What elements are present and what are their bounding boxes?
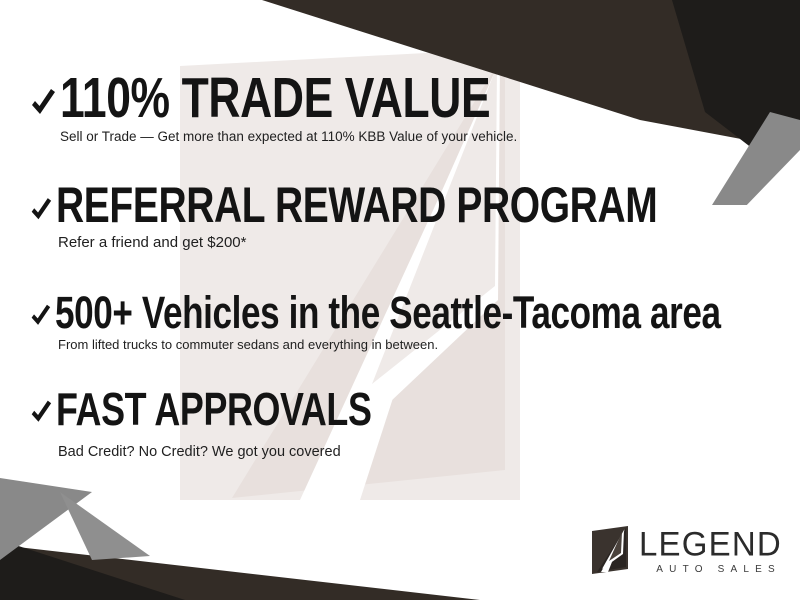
- feature-item-trade-value: 110% TRADE VALUE Sell or Trade — Get mor…: [30, 72, 780, 144]
- feature-item-fast-approvals: FAST APPROVALS Bad Credit? No Credit? We…: [30, 388, 780, 460]
- feature-subline: Sell or Trade — Get more than expected a…: [60, 129, 780, 144]
- logo-tagline: AUTO SALES: [639, 565, 782, 575]
- feature-headline-row: 500+ Vehicles in the Seattle-Tacoma area: [30, 292, 780, 333]
- feature-headline-row: FAST APPROVALS: [30, 388, 780, 430]
- legend-auto-sales-logo: LEGEND AUTO SALES: [588, 525, 782, 575]
- feature-headline-row: 110% TRADE VALUE: [30, 72, 780, 124]
- feature-headline-row: REFERRAL REWARD PROGRAM: [30, 182, 780, 228]
- logo-wordmark: LEGEND AUTO SALES: [639, 525, 782, 575]
- check-icon: [30, 86, 56, 120]
- feature-subline: Refer a friend and get $200*: [58, 234, 780, 251]
- check-icon: [30, 195, 52, 225]
- feature-subline: From lifted trucks to commuter sedans an…: [58, 337, 780, 352]
- feature-headline: REFERRAL REWARD PROGRAM: [56, 182, 657, 228]
- feature-list: 110% TRADE VALUE Sell or Trade — Get mor…: [0, 0, 800, 600]
- feature-item-referral-reward: REFERRAL REWARD PROGRAM Refer a friend a…: [30, 182, 780, 251]
- feature-headline: 110% TRADE VALUE: [60, 72, 490, 124]
- feature-headline: FAST APPROVALS: [56, 388, 371, 430]
- feature-subline: Bad Credit? No Credit? We got you covere…: [58, 444, 780, 460]
- promo-banner: 110% TRADE VALUE Sell or Trade — Get mor…: [0, 0, 800, 600]
- logo-name: LEGEND: [639, 526, 782, 561]
- feature-headline: 500+ Vehicles in the Seattle-Tacoma area: [55, 292, 721, 333]
- check-icon: [30, 302, 51, 330]
- feature-item-inventory: 500+ Vehicles in the Seattle-Tacoma area…: [30, 292, 780, 352]
- legend-chevron-mark-icon: [588, 525, 630, 575]
- check-icon: [30, 398, 52, 427]
